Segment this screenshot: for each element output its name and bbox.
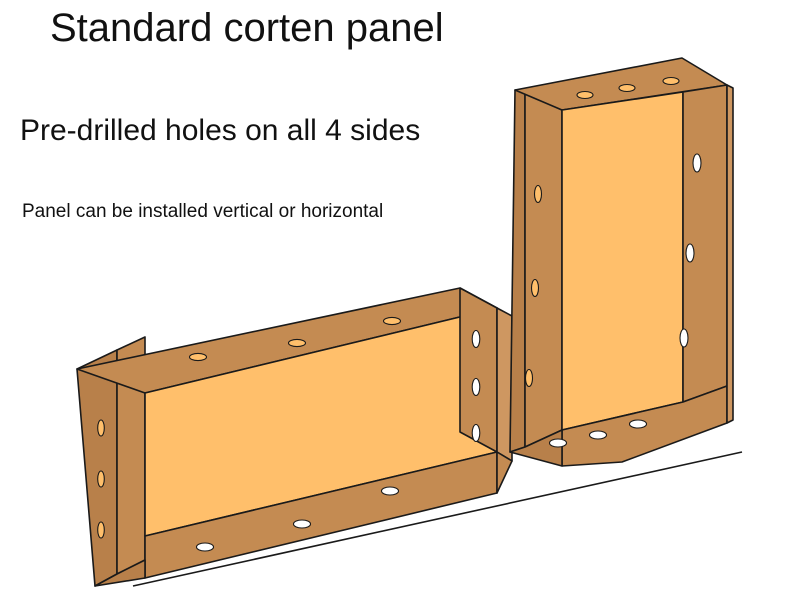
hole — [686, 244, 694, 262]
vertical-panel-face — [562, 92, 683, 430]
hole — [577, 92, 593, 99]
vertical-panel — [510, 58, 733, 466]
hole — [98, 420, 105, 436]
hole — [526, 370, 533, 387]
hole — [663, 78, 679, 85]
hole — [472, 331, 480, 348]
horizontal-panel — [77, 288, 512, 586]
hole — [472, 379, 480, 396]
panel-illustration: .ol { stroke: #1a1a1a; stroke-width: 1.6… — [0, 0, 800, 600]
hole — [590, 431, 607, 439]
hole — [190, 353, 207, 360]
hole — [98, 522, 105, 538]
hole — [535, 186, 542, 203]
hole — [294, 520, 311, 528]
hole — [98, 471, 105, 487]
hole — [472, 425, 480, 442]
hole — [693, 154, 701, 172]
horizontal-panel-left-outer-face — [77, 350, 117, 586]
hole — [619, 85, 635, 92]
hole — [289, 339, 306, 346]
slide-canvas: Standard corten panel Pre-drilled holes … — [0, 0, 800, 600]
hole — [532, 280, 539, 297]
hole — [550, 439, 567, 447]
hole — [680, 329, 688, 347]
hole — [384, 317, 401, 324]
vertical-panel-left-flange — [525, 92, 562, 447]
hole — [382, 487, 399, 495]
vertical-panel-right-outer-face — [727, 85, 733, 423]
hole — [197, 543, 214, 551]
hole — [630, 420, 647, 428]
vertical-panel-left-outer-face — [510, 90, 525, 452]
